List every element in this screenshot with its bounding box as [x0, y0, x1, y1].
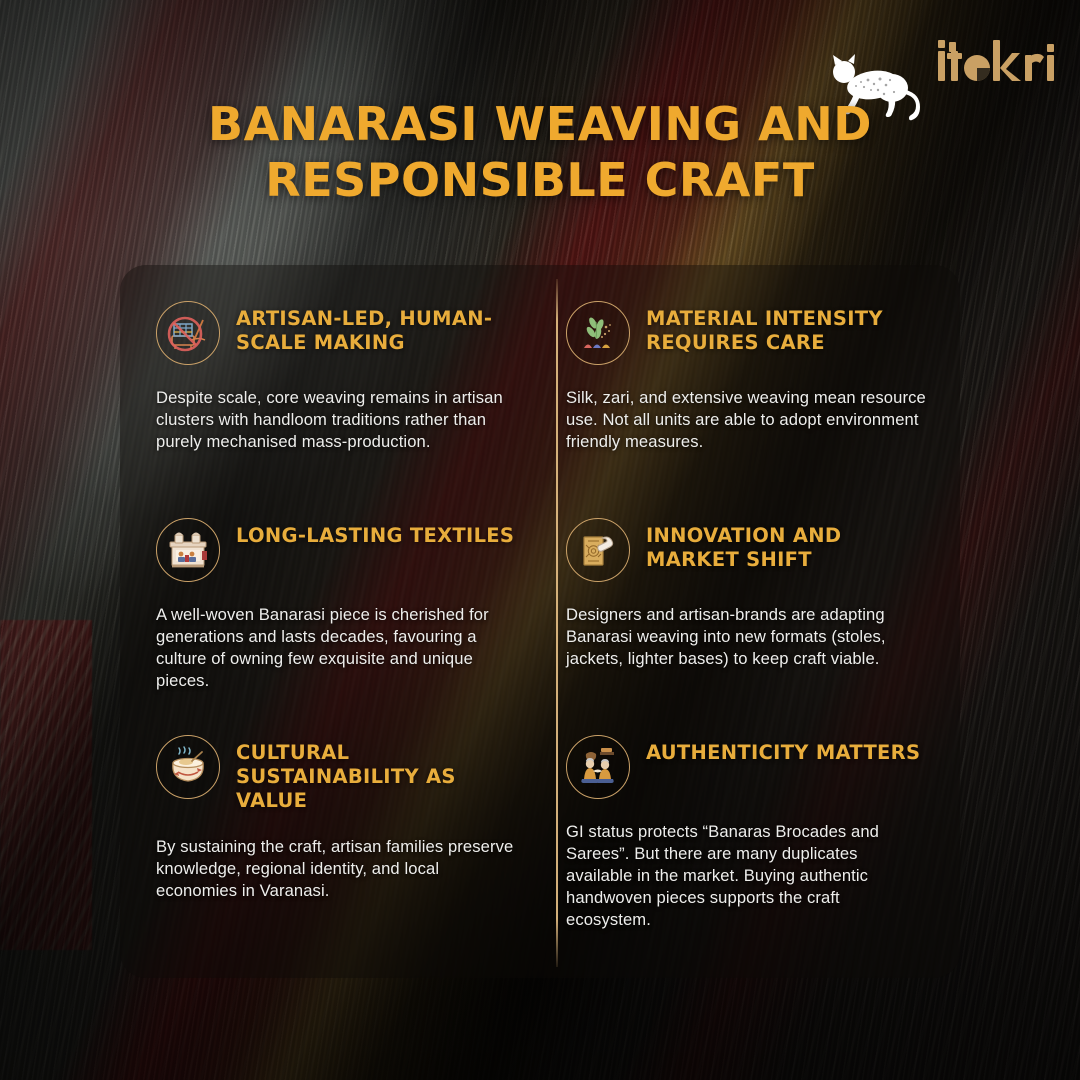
page-title-line-2: RESPONSIBLE CRAFT: [0, 152, 1080, 208]
feature-title: INNOVATION AND MARKET SHIFT: [646, 518, 926, 572]
feature-card-innovation-market-shift[interactable]: INNOVATION AND MARKET SHIFT Designers an…: [540, 518, 950, 735]
itokri-wordmark-icon: [936, 35, 1056, 87]
no-machine-loom-icon: [156, 301, 220, 365]
feature-title: MATERIAL INTENSITY REQUIRES CARE: [646, 301, 926, 355]
two-artisans-icon: [566, 735, 630, 799]
feature-header: INNOVATION AND MARKET SHIFT: [566, 518, 926, 582]
natural-dye-leaves-icon: [566, 301, 630, 365]
feature-title: ARTISAN-LED, HUMAN-SCALE MAKING: [236, 301, 516, 355]
page-title-line-1: BANARASI WEAVING AND: [0, 96, 1080, 152]
heritage-shop-icon: [156, 518, 220, 582]
feature-body: Silk, zari, and extensive weaving mean r…: [566, 387, 926, 453]
feature-title: LONG-LASTING TEXTILES: [236, 518, 514, 548]
feature-header: LONG-LASTING TEXTILES: [156, 518, 516, 582]
feature-header: MATERIAL INTENSITY REQUIRES CARE: [566, 301, 926, 365]
feature-header: ARTISAN-LED, HUMAN-SCALE MAKING: [156, 301, 516, 365]
feature-header: AUTHENTICITY MATTERS: [566, 735, 926, 799]
feature-card-long-lasting-textiles[interactable]: LONG-LASTING TEXTILES A well-woven Banar…: [130, 518, 540, 735]
infographic-poster: BANARASI WEAVING AND RESPONSIBLE CRAFT: [0, 0, 1080, 1080]
feature-card-authenticity-matters[interactable]: AUTHENTICITY MATTERS GI status protects …: [540, 735, 950, 952]
page-title: BANARASI WEAVING AND RESPONSIBLE CRAFT: [0, 96, 1080, 208]
feature-card-material-intensity[interactable]: MATERIAL INTENSITY REQUIRES CARE Silk, z…: [540, 301, 950, 518]
brand-logo[interactable]: [936, 26, 1056, 96]
hand-holding-brocade-icon: [566, 518, 630, 582]
feature-body: GI status protects “Banaras Brocades and…: [566, 821, 926, 931]
feature-title: AUTHENTICITY MATTERS: [646, 735, 920, 765]
steaming-dye-pot-icon: [156, 735, 220, 799]
feature-title: CULTURAL SUSTAINABILITY AS VALUE: [236, 735, 516, 814]
features-panel: ARTISAN-LED, HUMAN-SCALE MAKING Despite …: [120, 265, 960, 978]
feature-card-cultural-sustainability[interactable]: CULTURAL SUSTAINABILITY AS VALUE By sust…: [130, 735, 540, 952]
feature-body: Designers and artisan-brands are adaptin…: [566, 604, 926, 670]
feature-body: By sustaining the craft, artisan familie…: [156, 836, 516, 902]
feature-card-artisan-led[interactable]: ARTISAN-LED, HUMAN-SCALE MAKING Despite …: [130, 301, 540, 518]
feature-body: Despite scale, core weaving remains in a…: [156, 387, 516, 453]
feature-body: A well-woven Banarasi piece is cherished…: [156, 604, 516, 692]
feature-header: CULTURAL SUSTAINABILITY AS VALUE: [156, 735, 516, 814]
